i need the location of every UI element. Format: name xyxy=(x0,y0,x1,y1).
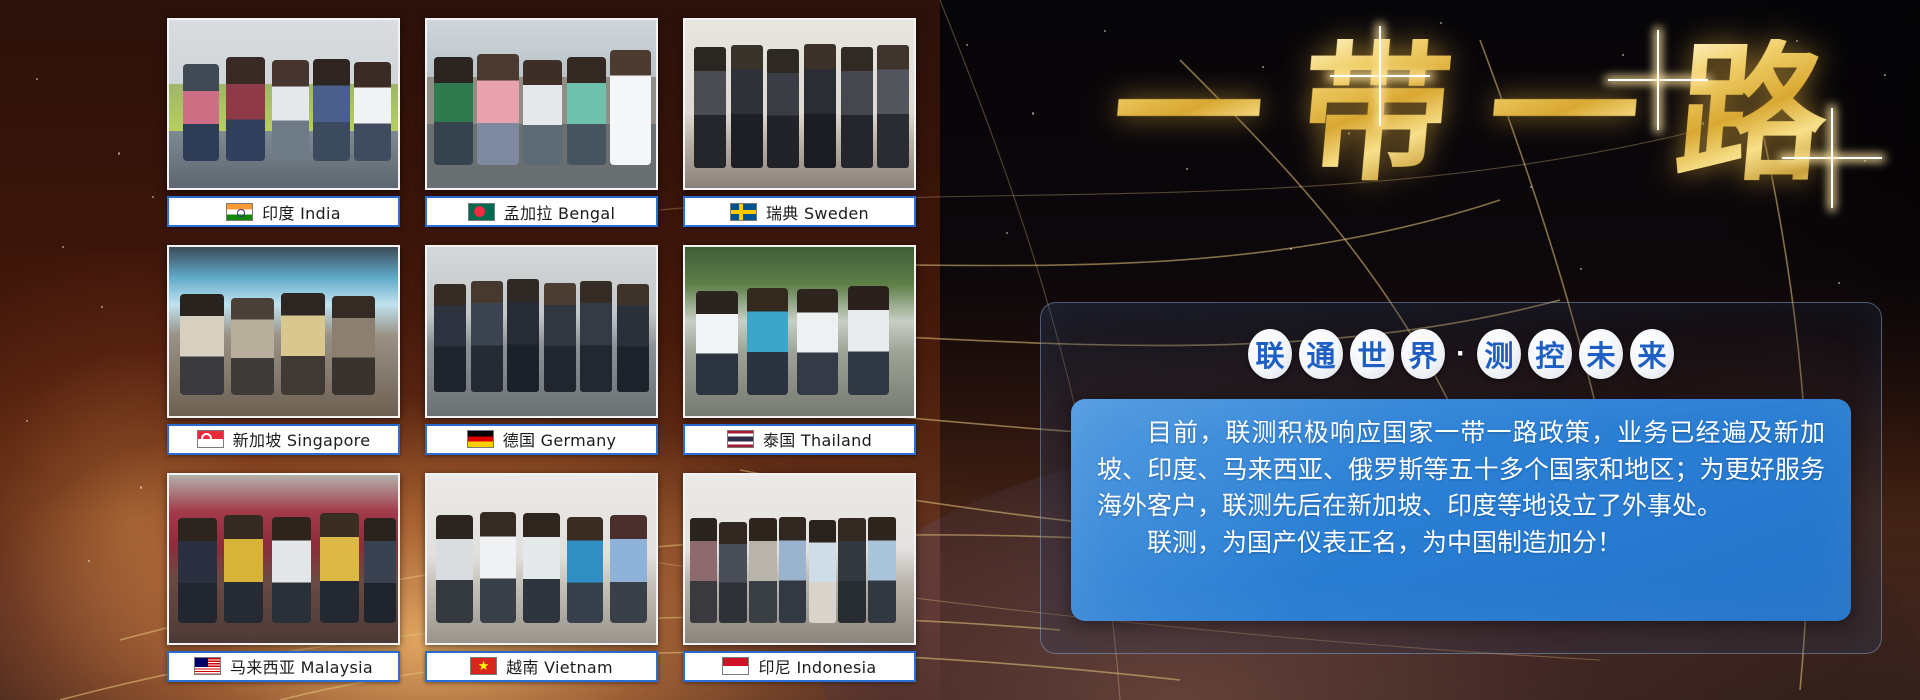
caption-label: 新加坡 Singapore xyxy=(233,427,371,451)
grid-cell-bengal[interactable]: 孟加拉 Bengal xyxy=(425,18,658,227)
banner-stage: 印度 India 孟加拉 Bengal xyxy=(0,0,1920,700)
photo-singapore[interactable] xyxy=(167,245,400,417)
caption-malaysia[interactable]: 马来西亚 Malaysia xyxy=(167,651,400,682)
flag-vietnam-icon xyxy=(470,657,497,675)
photo-bengal[interactable] xyxy=(425,18,658,190)
flag-sweden-icon xyxy=(730,203,757,221)
caption-label: 越南 Vietnam xyxy=(506,654,613,678)
caption-germany[interactable]: 德国 Germany xyxy=(425,424,658,455)
flag-india-icon xyxy=(226,203,253,221)
flag-malaysia-icon xyxy=(194,657,221,675)
grid-cell-malaysia[interactable]: 马来西亚 Malaysia xyxy=(167,473,400,682)
caption-label: 马来西亚 Malaysia xyxy=(230,654,373,678)
caption-label: 孟加拉 Bengal xyxy=(504,200,615,224)
grid-cell-thailand[interactable]: 泰国 Thailand xyxy=(683,245,916,454)
caption-india[interactable]: 印度 India xyxy=(167,196,400,227)
slogan-chip-1: 联 xyxy=(1248,329,1292,379)
country-photo-grid: 印度 India 孟加拉 Bengal xyxy=(167,18,919,682)
calligraphy-char-4: 路 xyxy=(1670,39,1833,189)
caption-vietnam[interactable]: 越南 Vietnam xyxy=(425,651,658,682)
slogan-chip-8: 来 xyxy=(1630,329,1674,379)
caption-label: 印度 India xyxy=(262,200,341,224)
photo-india[interactable] xyxy=(167,18,400,190)
grid-cell-sweden[interactable]: 瑞典 Sweden xyxy=(683,18,916,227)
caption-label: 印尼 Indonesia xyxy=(758,654,876,678)
grid-cell-germany[interactable]: 德国 Germany xyxy=(425,245,658,454)
grid-cell-singapore[interactable]: 新加坡 Singapore xyxy=(167,245,400,454)
description-paragraph-2: 联测，为国产仪表正名，为中国制造加分！ xyxy=(1097,525,1825,562)
caption-indonesia[interactable]: 印尼 Indonesia xyxy=(683,651,916,682)
photo-thailand[interactable] xyxy=(683,245,916,417)
caption-thailand[interactable]: 泰国 Thailand xyxy=(683,424,916,455)
grid-cell-vietnam[interactable]: 越南 Vietnam xyxy=(425,473,658,682)
slogan-separator: · xyxy=(1452,329,1470,379)
grid-cell-india[interactable]: 印度 India xyxy=(167,18,400,227)
slogan-row: 联 通 世 界 · 测 控 未 来 xyxy=(1041,329,1881,379)
caption-singapore[interactable]: 新加坡 Singapore xyxy=(167,424,400,455)
calligraphy-char-2: 带 xyxy=(1294,39,1457,189)
calligraphy-title: 一 带 一 路 xyxy=(1040,8,1900,220)
caption-label: 德国 Germany xyxy=(503,427,617,451)
info-panel: 联 通 世 界 · 测 控 未 来 目前，联测积极响应国家一带一路政策，业务已经… xyxy=(1040,302,1882,654)
flag-bangladesh-icon xyxy=(468,203,495,221)
flag-germany-icon xyxy=(467,430,494,448)
slogan-chip-2: 通 xyxy=(1299,329,1343,379)
slogan-chip-7: 未 xyxy=(1579,329,1623,379)
slogan-chip-6: 控 xyxy=(1528,329,1572,379)
flag-singapore-icon xyxy=(197,430,224,448)
photo-germany[interactable] xyxy=(425,245,658,417)
caption-sweden[interactable]: 瑞典 Sweden xyxy=(683,196,916,227)
caption-label: 瑞典 Sweden xyxy=(766,200,869,224)
slogan-chip-4: 界 xyxy=(1401,329,1445,379)
photo-sweden[interactable] xyxy=(683,18,916,190)
description-box: 目前，联测积极响应国家一带一路政策，业务已经遍及新加坡、印度、马来西亚、俄罗斯等… xyxy=(1071,399,1851,621)
calligraphy-char-3: 一 xyxy=(1482,39,1645,189)
description-paragraph-1: 目前，联测积极响应国家一带一路政策，业务已经遍及新加坡、印度、马来西亚、俄罗斯等… xyxy=(1097,415,1825,525)
flag-indonesia-icon xyxy=(722,657,749,675)
photo-vietnam[interactable] xyxy=(425,473,658,645)
caption-bengal[interactable]: 孟加拉 Bengal xyxy=(425,196,658,227)
grid-cell-indonesia[interactable]: 印尼 Indonesia xyxy=(683,473,916,682)
calligraphy-char-1: 一 xyxy=(1106,39,1269,189)
slogan-chip-3: 世 xyxy=(1350,329,1394,379)
flag-thailand-icon xyxy=(727,430,754,448)
slogan-chip-5: 测 xyxy=(1477,329,1521,379)
photo-indonesia[interactable] xyxy=(683,473,916,645)
photo-malaysia[interactable] xyxy=(167,473,400,645)
caption-label: 泰国 Thailand xyxy=(763,427,872,451)
